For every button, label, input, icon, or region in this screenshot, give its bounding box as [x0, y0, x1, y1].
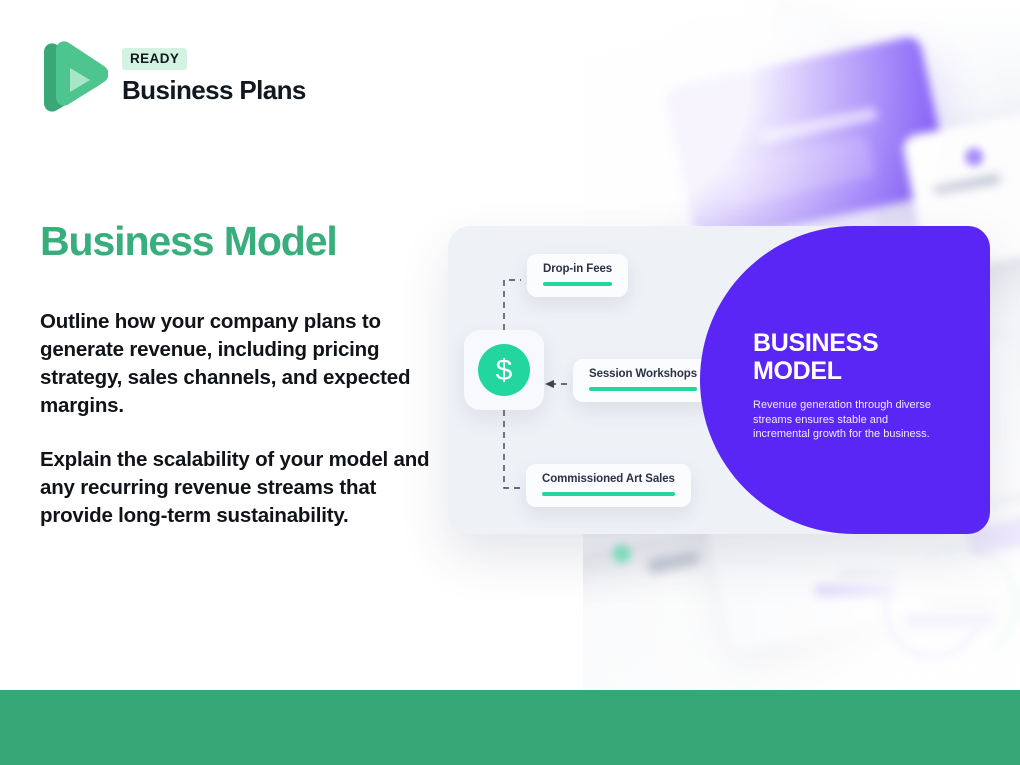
stream-node-commissioned-art-sales[interactable]: Commissioned Art Sales [526, 464, 691, 507]
footer-bar [0, 690, 1020, 765]
blurred-chart-text [928, 600, 990, 609]
stream-progress-bar [543, 282, 612, 286]
brand-text-block: READY Business Plans [122, 48, 306, 106]
body-paragraph-1: Outline how your company plans to genera… [40, 308, 440, 420]
blurred-chart-text [838, 570, 898, 579]
blurred-chart-label [815, 585, 895, 596]
stream-progress-bar [589, 387, 697, 391]
blurred-chart-label [905, 615, 995, 626]
stream-label: Session Workshops [589, 368, 697, 380]
panel-title: BUSINESSMODEL [753, 329, 878, 385]
body-paragraph-2: Explain the scalability of your model an… [40, 446, 440, 530]
revenue-hub: $ [464, 330, 544, 410]
stream-node-drop-in-fees[interactable]: Drop-in Fees [527, 254, 628, 297]
business-model-purple-panel: BUSINESSMODEL Revenue generation through… [700, 226, 990, 534]
stream-label: Commissioned Art Sales [542, 473, 675, 485]
ready-badge: READY [122, 48, 187, 70]
stream-node-session-workshops[interactable]: Session Workshops [573, 359, 713, 402]
stream-progress-bar [542, 492, 675, 496]
brand-title: Business Plans [122, 75, 306, 106]
stream-label: Drop-in Fees [543, 263, 612, 275]
dollar-sign-icon: $ [478, 344, 530, 396]
blurred-slide-label [647, 550, 701, 574]
blurred-dot [965, 148, 983, 166]
business-model-card: $ Drop-in Fees Session Workshops Commiss… [448, 226, 990, 534]
blurred-dot-green [613, 545, 631, 563]
panel-description: Revenue generation through diverse strea… [753, 398, 945, 442]
brand-logo-block: READY Business Plans [40, 38, 306, 116]
page-title: Business Model [40, 218, 337, 265]
play-triangles-logo-icon [40, 38, 108, 116]
svg-text:$: $ [496, 354, 513, 387]
